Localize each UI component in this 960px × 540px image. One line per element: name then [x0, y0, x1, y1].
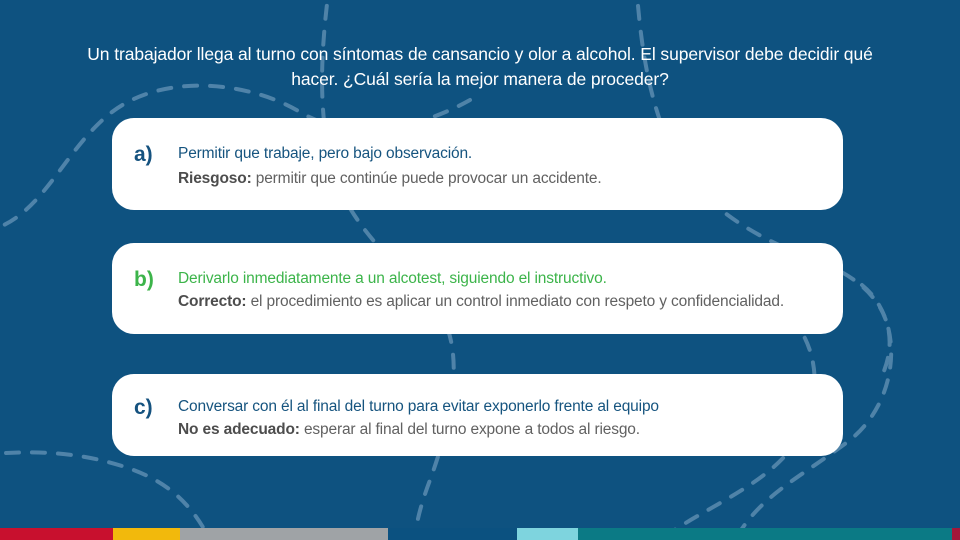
bottom-bar-segment-light-cyan — [517, 528, 578, 540]
option-marker-b: b) — [134, 255, 178, 293]
option-note-label-b: Correcto: — [178, 293, 246, 310]
option-card-c[interactable]: c) Conversar con él al final del turno p… — [112, 374, 843, 456]
option-card-a[interactable]: a) Permitir que trabaje, pero bajo obser… — [112, 118, 843, 210]
option-note-text-c: esperar al final del turno expone a todo… — [300, 421, 640, 438]
option-title-b: Derivarlo inmediatamente a un alcotest, … — [178, 267, 821, 290]
option-body-b: Derivarlo inmediatamente a un alcotest, … — [178, 255, 821, 313]
option-body-c: Conversar con él al final del turno para… — [178, 386, 821, 441]
bottom-bar-segment-red — [0, 528, 113, 540]
option-note-text-a: permitir que continúe puede provocar un … — [252, 170, 602, 187]
bottom-bar-segment-yellow — [113, 528, 180, 540]
option-marker-a: a) — [134, 130, 178, 168]
option-marker-c: c) — [134, 386, 178, 421]
bottom-bar-segment-blue — [388, 528, 517, 540]
option-note-text-b: el procedimiento es aplicar un control i… — [246, 293, 784, 310]
option-note-a: Riesgoso: permitir que continúe puede pr… — [178, 167, 821, 190]
option-title-c: Conversar con él al final del turno para… — [178, 395, 821, 418]
bottom-bar-segment-red-end — [952, 528, 960, 540]
bottom-color-bar — [0, 528, 960, 540]
slide-canvas: Un trabajador llega al turno con síntoma… — [0, 0, 960, 540]
bottom-bar-segment-gray — [180, 528, 388, 540]
question-text: Un trabajador llega al turno con síntoma… — [70, 42, 890, 92]
option-note-label-c: No es adecuado: — [178, 421, 300, 438]
bottom-bar-segment-teal — [578, 528, 952, 540]
option-title-a: Permitir que trabaje, pero bajo observac… — [178, 142, 821, 165]
option-note-b: Correcto: el procedimiento es aplicar un… — [178, 290, 821, 313]
option-body-a: Permitir que trabaje, pero bajo observac… — [178, 130, 821, 190]
option-note-c: No es adecuado: esperar al final del tur… — [178, 418, 821, 441]
option-card-b[interactable]: b) Derivarlo inmediatamente a un alcotes… — [112, 243, 843, 334]
option-note-label-a: Riesgoso: — [178, 170, 252, 187]
